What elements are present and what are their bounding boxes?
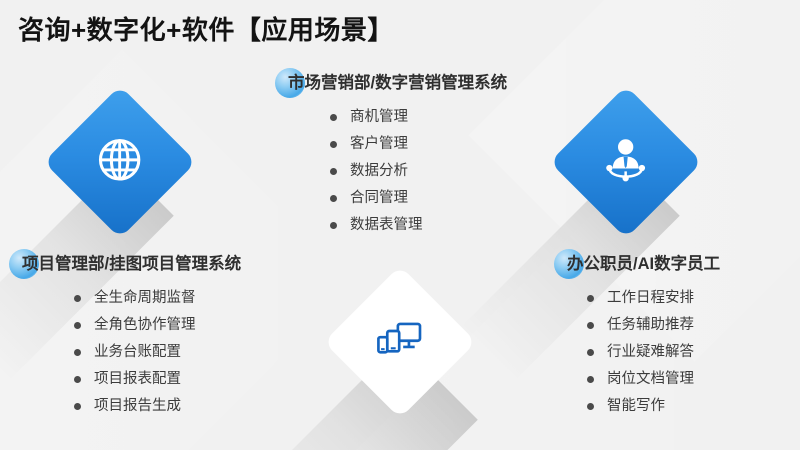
list-item: 全角色协作管理 — [74, 312, 241, 339]
list-item: 工作日程安排 — [587, 285, 720, 312]
section-market-heading-text: 市场营销部/数字营销管理系统 — [288, 74, 507, 92]
bullet-icon — [74, 295, 81, 302]
bullet-icon — [74, 403, 81, 410]
section-market-list: 商机管理 客户管理 数据分析 合同管理 数据表管理 — [330, 104, 507, 239]
list-item: 任务辅助推荐 — [587, 312, 720, 339]
section-staff-heading: 办公职员/AI数字员工 — [563, 253, 720, 275]
list-item-label: 项目报告生成 — [94, 393, 181, 420]
section-staff-list: 工作日程安排 任务辅助推荐 行业疑难解答 岗位文档管理 智能写作 — [587, 285, 720, 420]
list-item: 项目报表配置 — [74, 366, 241, 393]
bullet-icon — [587, 349, 594, 356]
person-org-icon — [602, 138, 650, 187]
list-item: 合同管理 — [330, 185, 507, 212]
list-item-label: 全角色协作管理 — [94, 312, 196, 339]
list-item: 全生命周期监督 — [74, 285, 241, 312]
bullet-icon — [330, 168, 337, 175]
list-item: 项目报告生成 — [74, 393, 241, 420]
bullet-icon — [74, 322, 81, 329]
bullet-icon — [330, 141, 337, 148]
list-item: 智能写作 — [587, 393, 720, 420]
list-item-label: 业务台账配置 — [94, 339, 181, 366]
section-project-heading: 项目管理部/挂图项目管理系统 — [18, 253, 241, 275]
list-item-label: 数据表管理 — [350, 212, 423, 239]
list-item-label: 岗位文档管理 — [607, 366, 694, 393]
bullet-icon — [587, 295, 594, 302]
list-item-label: 项目报表配置 — [94, 366, 181, 393]
list-item-label: 客户管理 — [350, 131, 408, 158]
list-item: 行业疑难解答 — [587, 339, 720, 366]
tile-devices[interactable] — [346, 288, 454, 396]
list-item: 岗位文档管理 — [587, 366, 720, 393]
tile-person-org[interactable] — [572, 108, 680, 216]
list-item: 数据表管理 — [330, 212, 507, 239]
list-item-label: 工作日程安排 — [607, 285, 694, 312]
bullet-icon — [74, 376, 81, 383]
list-item: 业务台账配置 — [74, 339, 241, 366]
bullet-icon — [330, 195, 337, 202]
bullet-icon — [330, 114, 337, 121]
list-item-label: 商机管理 — [350, 104, 408, 131]
list-item-label: 智能写作 — [607, 393, 665, 420]
bullet-icon — [587, 376, 594, 383]
list-item-label: 任务辅助推荐 — [607, 312, 694, 339]
section-market: 市场营销部/数字营销管理系统 商机管理 客户管理 数据分析 合同管理 数据表管理 — [284, 72, 507, 239]
section-project-heading-text: 项目管理部/挂图项目管理系统 — [22, 255, 241, 273]
bullet-icon — [330, 222, 337, 229]
tile-globe[interactable] — [66, 108, 174, 216]
bullet-icon — [74, 349, 81, 356]
devices-icon — [377, 321, 423, 364]
list-item-label: 行业疑难解答 — [607, 339, 694, 366]
section-staff: 办公职员/AI数字员工 工作日程安排 任务辅助推荐 行业疑难解答 岗位文档管理 … — [563, 253, 720, 420]
globe-icon — [97, 137, 143, 188]
section-staff-heading-text: 办公职员/AI数字员工 — [567, 255, 720, 273]
list-item-label: 全生命周期监督 — [94, 285, 196, 312]
bullet-icon — [587, 322, 594, 329]
list-item-label: 合同管理 — [350, 185, 408, 212]
section-project-list: 全生命周期监督 全角色协作管理 业务台账配置 项目报表配置 项目报告生成 — [74, 285, 241, 420]
list-item: 客户管理 — [330, 131, 507, 158]
page-title: 咨询+数字化+软件【应用场景】 — [18, 10, 394, 47]
list-item-label: 数据分析 — [350, 158, 408, 185]
bullet-icon — [587, 403, 594, 410]
list-item: 数据分析 — [330, 158, 507, 185]
list-item: 商机管理 — [330, 104, 507, 131]
section-market-heading: 市场营销部/数字营销管理系统 — [284, 72, 507, 94]
section-project: 项目管理部/挂图项目管理系统 全生命周期监督 全角色协作管理 业务台账配置 项目… — [18, 253, 241, 420]
